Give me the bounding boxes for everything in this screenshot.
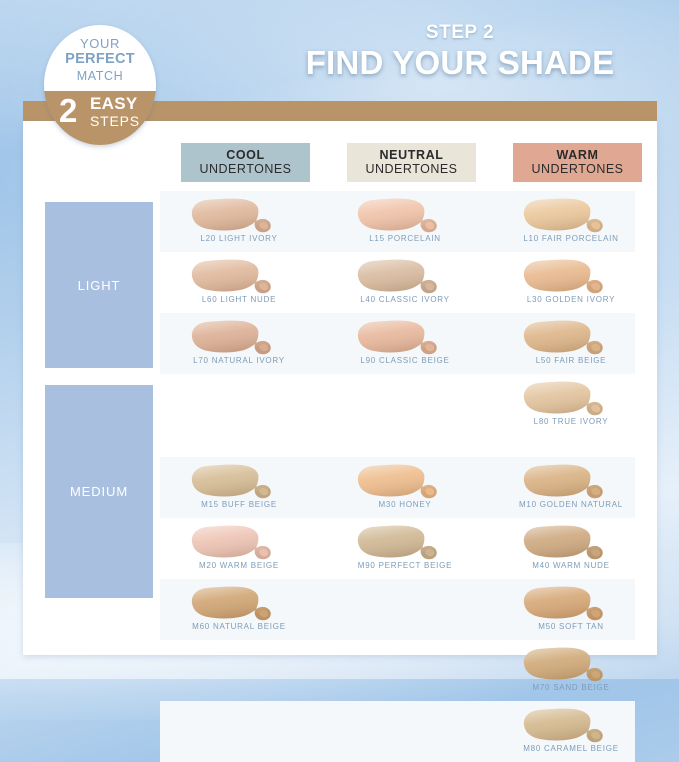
shade-label: L80 TRUE IVORY	[492, 417, 650, 426]
level-label-medium: MEDIUM	[70, 484, 128, 499]
foundation-swatch	[348, 522, 444, 560]
shade-label: M90 PERFECT BEIGE	[326, 561, 484, 570]
foundation-swatch	[514, 522, 610, 560]
level-panel-medium: MEDIUM	[45, 385, 153, 598]
foundation-swatch	[514, 461, 610, 499]
badge-line-match: MATCH	[44, 69, 156, 83]
foundation-swatch	[182, 256, 278, 294]
shade-cell[interactable]: M10 GOLDEN NATURAL	[492, 457, 650, 518]
undertone-neutral-subtitle: UNDERTONES	[365, 162, 457, 177]
undertone-warm-subtitle: UNDERTONES	[531, 162, 623, 177]
shade-label: M70 SAND BEIGE	[492, 683, 650, 692]
shade-cell[interactable]: L20 LIGHT IVORY	[160, 191, 318, 252]
shade-cell[interactable]: M30 HONEY	[326, 457, 484, 518]
shade-cell[interactable]: L60 LIGHT NUDE	[160, 252, 318, 313]
shade-label: L50 FAIR BEIGE	[492, 356, 650, 365]
shade-row: L70 NATURAL IVORYL90 CLASSIC BEIGEL50 FA…	[160, 313, 635, 374]
perfect-match-badge: YOUR PERFECT MATCH 2 EASY STEPS	[44, 25, 156, 145]
foundation-swatch	[514, 378, 610, 416]
shade-label: L60 LIGHT NUDE	[160, 295, 318, 304]
shade-cell[interactable]: L50 FAIR BEIGE	[492, 313, 650, 374]
shade-label: M15 BUFF BEIGE	[160, 500, 318, 509]
shade-row: M70 SAND BEIGE	[160, 640, 635, 701]
badge-line-steps: STEPS	[90, 114, 140, 128]
undertone-header-cool: COOL UNDERTONES	[181, 143, 310, 182]
shade-cell[interactable]: M15 BUFF BEIGE	[160, 457, 318, 518]
foundation-swatch	[182, 461, 278, 499]
badge-line-easy: EASY	[90, 95, 138, 112]
shade-label: L20 LIGHT IVORY	[160, 234, 318, 243]
shade-label: L30 GOLDEN IVORY	[492, 295, 650, 304]
foundation-swatch	[514, 705, 610, 743]
shade-cell[interactable]: L40 CLASSIC IVORY	[326, 252, 484, 313]
foundation-swatch	[182, 522, 278, 560]
undertone-neutral-title: NEUTRAL	[380, 148, 444, 162]
shade-row: M80 CARAMEL BEIGE	[160, 701, 635, 762]
foundation-swatch	[348, 461, 444, 499]
undertone-cool-subtitle: UNDERTONES	[199, 162, 291, 177]
shade-cell[interactable]: M70 SAND BEIGE	[492, 640, 650, 701]
badge-line-perfect: PERFECT	[44, 51, 156, 67]
foundation-swatch	[182, 583, 278, 621]
shade-cell[interactable]: M60 NATURAL BEIGE	[160, 579, 318, 640]
shade-label: L90 CLASSIC BEIGE	[326, 356, 484, 365]
foundation-swatch	[514, 583, 610, 621]
level-label-light: LIGHT	[78, 278, 121, 293]
foundation-swatch	[514, 195, 610, 233]
badge-line-your: YOUR	[44, 36, 156, 51]
foundation-swatch	[182, 317, 278, 355]
shade-cell[interactable]: M40 WARM NUDE	[492, 518, 650, 579]
shade-label: L10 FAIR PORCELAIN	[492, 234, 650, 243]
shade-row: L20 LIGHT IVORYL15 PORCELAINL10 FAIR POR…	[160, 191, 635, 252]
shade-label: L40 CLASSIC IVORY	[326, 295, 484, 304]
foundation-swatch	[348, 256, 444, 294]
shade-label: L15 PORCELAIN	[326, 234, 484, 243]
shade-cell[interactable]: L90 CLASSIC BEIGE	[326, 313, 484, 374]
step-label: STEP 2	[270, 22, 650, 44]
shade-cell[interactable]: L10 FAIR PORCELAIN	[492, 191, 650, 252]
shade-label: M10 GOLDEN NATURAL	[492, 500, 650, 509]
foundation-swatch	[348, 195, 444, 233]
shade-row: L80 TRUE IVORY	[160, 374, 635, 435]
undertone-header-neutral: NEUTRAL UNDERTONES	[347, 143, 476, 182]
shade-label: M60 NATURAL BEIGE	[160, 622, 318, 631]
undertone-header-warm: WARM UNDERTONES	[513, 143, 642, 182]
foundation-swatch	[514, 317, 610, 355]
shade-grid: L20 LIGHT IVORYL15 PORCELAINL10 FAIR POR…	[160, 191, 635, 762]
undertone-warm-title: WARM	[557, 148, 599, 162]
shade-label: M30 HONEY	[326, 500, 484, 509]
shade-cell[interactable]: L70 NATURAL IVORY	[160, 313, 318, 374]
shade-label: M20 WARM BEIGE	[160, 561, 318, 570]
shade-label: M40 WARM NUDE	[492, 561, 650, 570]
shade-row: L60 LIGHT NUDEL40 CLASSIC IVORYL30 GOLDE…	[160, 252, 635, 313]
level-panel-light: LIGHT	[45, 202, 153, 368]
shade-cell[interactable]: M20 WARM BEIGE	[160, 518, 318, 579]
shade-cell[interactable]: M90 PERFECT BEIGE	[326, 518, 484, 579]
shade-row: M20 WARM BEIGEM90 PERFECT BEIGEM40 WARM …	[160, 518, 635, 579]
undertone-cool-title: COOL	[226, 148, 265, 162]
foundation-swatch	[514, 644, 610, 682]
shade-cell[interactable]: L80 TRUE IVORY	[492, 374, 650, 435]
shade-row: M60 NATURAL BEIGEM50 SOFT TAN	[160, 579, 635, 640]
badge-step-number: 2	[59, 94, 77, 127]
shade-label: L70 NATURAL IVORY	[160, 356, 318, 365]
shade-cell[interactable]: L30 GOLDEN IVORY	[492, 252, 650, 313]
shade-cell[interactable]: M80 CARAMEL BEIGE	[492, 701, 650, 762]
shade-cell[interactable]: L15 PORCELAIN	[326, 191, 484, 252]
shade-label: M50 SOFT TAN	[492, 622, 650, 631]
shade-row: M15 BUFF BEIGEM30 HONEYM10 GOLDEN NATURA…	[160, 457, 635, 518]
page-title: FIND YOUR SHADE	[250, 44, 670, 82]
section-gap	[160, 435, 635, 457]
foundation-swatch	[348, 317, 444, 355]
shade-label: M80 CARAMEL BEIGE	[492, 744, 650, 753]
foundation-swatch	[182, 195, 278, 233]
foundation-swatch	[514, 256, 610, 294]
shade-cell[interactable]: M50 SOFT TAN	[492, 579, 650, 640]
